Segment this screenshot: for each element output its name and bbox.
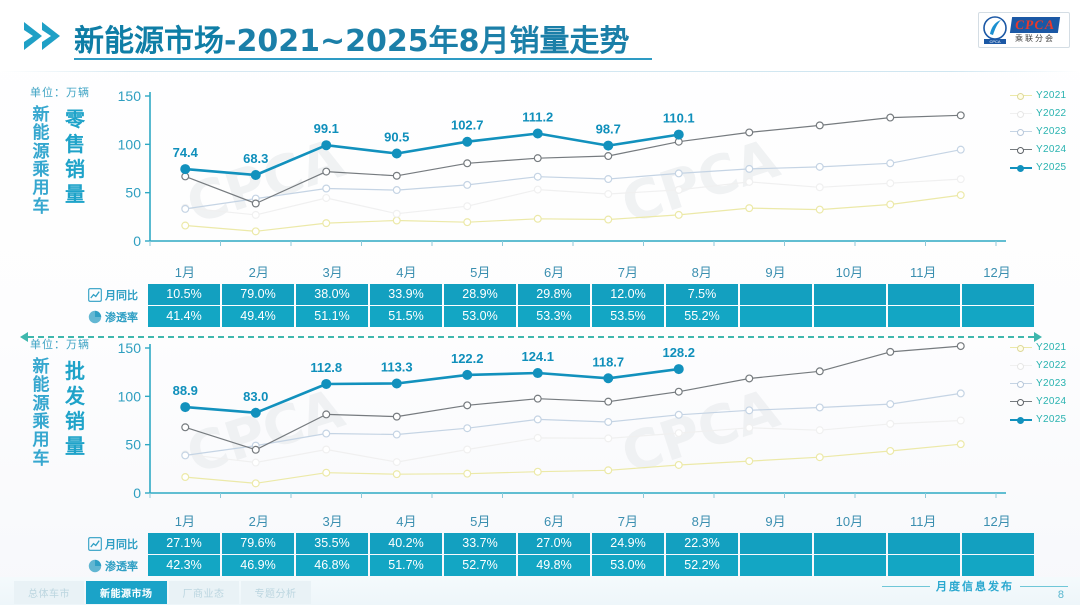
month-header: 3月 — [296, 512, 370, 532]
legend-item-y2023[interactable]: Y2023 — [1010, 126, 1074, 137]
month-header: 4月 — [369, 512, 443, 532]
svg-text:100: 100 — [118, 136, 142, 152]
footer-tab[interactable]: 新能源市场 — [86, 581, 167, 604]
table-cell — [740, 306, 812, 327]
table-cell: 53.5% — [592, 306, 664, 327]
month-header: 9月 — [739, 512, 813, 532]
table-cell: 49.4% — [222, 306, 294, 327]
table-cell — [962, 555, 1034, 576]
table-cell: 33.9% — [370, 284, 442, 305]
table-cell: 28.9% — [444, 284, 516, 305]
line-chart-icon — [88, 537, 102, 551]
line-chart-icon — [88, 288, 102, 302]
month-header: 8月 — [665, 512, 739, 532]
month-header: 11月 — [886, 263, 960, 283]
footer-tab[interactable]: 专题分析 — [241, 581, 311, 604]
svg-text:100: 100 — [118, 388, 142, 404]
svg-text:150: 150 — [118, 340, 142, 356]
footer-tabs: 总体车市新能源市场厂商业态专题分析 — [14, 581, 311, 604]
footer-tab[interactable]: 厂商业态 — [169, 581, 239, 604]
svg-text:50: 50 — [125, 185, 141, 201]
vertical-label-inner-retail: 零售销量 — [62, 108, 88, 208]
month-header: 3月 — [296, 263, 370, 283]
table-cell: 40.2% — [370, 533, 442, 554]
legend-item-y2025[interactable]: Y2025 — [1010, 162, 1074, 173]
legend-item-y2021[interactable]: Y2021 — [1010, 90, 1074, 101]
table-cell: 55.2% — [666, 306, 738, 327]
legend-swatch-icon — [1010, 145, 1032, 155]
table-cell: 29.8% — [518, 284, 590, 305]
row-label-penetration-retail: 渗透率 — [88, 306, 146, 327]
table-cell — [740, 555, 812, 576]
svg-text:118.7: 118.7 — [592, 354, 624, 369]
table-cell: 49.8% — [518, 555, 590, 576]
month-header: 7月 — [591, 263, 665, 283]
legend-item-y2023[interactable]: Y2023 — [1010, 378, 1074, 389]
legend-item-y2025[interactable]: Y2025 — [1010, 414, 1074, 425]
table-cell: 53.3% — [518, 306, 590, 327]
legend-label: Y2024 — [1036, 396, 1066, 407]
table-cell: 7.5% — [666, 284, 738, 305]
month-header: 1月 — [148, 512, 222, 532]
svg-text:112.8: 112.8 — [310, 360, 342, 375]
svg-text:0: 0 — [133, 233, 141, 249]
table-cell — [814, 533, 886, 554]
month-header: 5月 — [443, 512, 517, 532]
legend-item-y2021[interactable]: Y2021 — [1010, 342, 1074, 353]
legend-label: Y2025 — [1036, 162, 1066, 173]
svg-text:88.9: 88.9 — [173, 383, 198, 398]
header-divider — [0, 71, 1080, 72]
legend-label: Y2021 — [1036, 342, 1066, 353]
svg-text:111.2: 111.2 — [522, 110, 553, 125]
month-header: 11月 — [886, 512, 960, 532]
table-cell — [814, 555, 886, 576]
legend-swatch-icon — [1010, 163, 1032, 173]
month-header: 10月 — [812, 263, 886, 283]
month-header: 4月 — [369, 263, 443, 283]
footer-rule-left — [882, 586, 930, 587]
svg-text:102.7: 102.7 — [451, 118, 484, 133]
svg-text:122.2: 122.2 — [451, 351, 484, 366]
slide-page: CPCA CPCA CPCA CPCA 新能源市场-2021~2025年8月销量… — [0, 0, 1080, 605]
month-header: 6月 — [517, 263, 591, 283]
table-cell — [888, 306, 960, 327]
legend-swatch-icon — [1010, 109, 1032, 119]
svg-text:68.3: 68.3 — [243, 151, 268, 166]
chart-retail: 05010015074.468.399.190.5102.7111.298.71… — [104, 86, 1034, 266]
penetration-cells-wholesale: 42.3%46.9%46.8%51.7%52.7%49.8%53.0%52.2% — [148, 555, 1034, 576]
table-cell: 46.8% — [296, 555, 368, 576]
footer-title: 月度信息发布 — [936, 578, 1014, 594]
month-header: 12月 — [960, 263, 1034, 283]
legend-swatch-icon — [1010, 343, 1032, 353]
page-title-rest: -2021~2025年8月销量走势 — [224, 24, 629, 59]
table-cell: 12.0% — [592, 284, 664, 305]
table-cell: 52.7% — [444, 555, 516, 576]
month-header: 8月 — [665, 263, 739, 283]
month-header: 12月 — [960, 512, 1034, 532]
svg-text:98.7: 98.7 — [596, 122, 621, 137]
legend-item-y2022[interactable]: Y2022 — [1010, 108, 1074, 119]
svg-text:128.2: 128.2 — [662, 345, 695, 360]
footer-right: 月度信息发布 — [882, 578, 1068, 594]
vertical-label-outer-retail: 新能源乘用车 — [30, 106, 52, 216]
legend-swatch-icon — [1010, 379, 1032, 389]
footer-tab[interactable]: 总体车市 — [14, 581, 84, 604]
pie-chart-icon — [88, 559, 102, 573]
row-label-mom-wholesale: 月同比 — [88, 533, 146, 554]
table-cell: 22.3% — [666, 533, 738, 554]
cpca-brand-cn: 乘联分会 — [1011, 35, 1059, 43]
month-header: 9月 — [739, 263, 813, 283]
mom-cells-wholesale: 27.1%79.6%35.5%40.2%33.7%27.0%24.9%22.3% — [148, 533, 1034, 554]
table-cell: 33.7% — [444, 533, 516, 554]
table-cell: 79.6% — [222, 533, 294, 554]
row-label-text: 渗透率 — [105, 558, 138, 574]
table-cell: 10.5% — [148, 284, 220, 305]
legend-swatch-icon — [1010, 397, 1032, 407]
svg-text:90.5: 90.5 — [384, 130, 409, 145]
vertical-label-outer-wholesale: 新能源乘用车 — [30, 358, 52, 468]
table-cell — [814, 306, 886, 327]
table-cell: 27.0% — [518, 533, 590, 554]
legend-swatch-icon — [1010, 91, 1032, 101]
svg-text:150: 150 — [118, 88, 142, 104]
svg-text:113.3: 113.3 — [381, 359, 413, 374]
cpca-emblem-icon: CPCA — [982, 16, 1008, 44]
table-cell — [962, 306, 1034, 327]
legend-wholesale: Y2021 Y2022 Y2023 Y2024 Y2025 — [1010, 342, 1074, 425]
table-cell: 79.0% — [222, 284, 294, 305]
table-cell: 52.2% — [666, 555, 738, 576]
svg-text:99.1: 99.1 — [314, 121, 339, 136]
vertical-label-inner-wholesale: 批发销量 — [62, 360, 88, 460]
month-header: 5月 — [443, 263, 517, 283]
table-cell: 41.4% — [148, 306, 220, 327]
table-cell — [888, 555, 960, 576]
month-header: 2月 — [222, 512, 296, 532]
pie-chart-icon — [88, 310, 102, 324]
table-cell — [962, 533, 1034, 554]
table-cell: 51.7% — [370, 555, 442, 576]
legend-label: Y2022 — [1036, 108, 1066, 119]
table-cell — [814, 284, 886, 305]
table-cell: 51.1% — [296, 306, 368, 327]
table-cell: 46.9% — [222, 555, 294, 576]
table-cell — [740, 533, 812, 554]
table-cell: 53.0% — [444, 306, 516, 327]
page-footer: 总体车市新能源市场厂商业态专题分析 月度信息发布 8 — [0, 577, 1080, 605]
row-label-penetration-wholesale: 渗透率 — [88, 555, 146, 576]
month-header-row-wholesale: 1月2月3月4月5月6月7月8月9月10月11月12月 — [148, 512, 1034, 532]
legend-swatch-icon — [1010, 127, 1032, 137]
legend-retail: Y2021 Y2022 Y2023 Y2024 Y2025 — [1010, 90, 1074, 173]
row-label-text: 渗透率 — [105, 309, 138, 325]
row-label-text: 月同比 — [105, 287, 138, 303]
page-title-prefix: 新能源市场 — [74, 24, 224, 59]
table-cell: 42.3% — [148, 555, 220, 576]
month-header: 1月 — [148, 263, 222, 283]
month-header: 2月 — [222, 263, 296, 283]
unit-label-retail: 单位：万辆 — [30, 84, 90, 100]
cpca-logo-text: CPCA 乘联分会 — [1011, 17, 1059, 43]
row-label-mom-retail: 月同比 — [88, 284, 146, 305]
legend-item-y2024[interactable]: Y2024 — [1010, 396, 1074, 407]
table-cell: 53.0% — [592, 555, 664, 576]
title-underline — [74, 58, 652, 60]
table-cell: 38.0% — [296, 284, 368, 305]
page-header: 新能源市场-2021~2025年8月销量走势 CPCA CPCA 乘联分会 — [0, 0, 1080, 72]
page-title: 新能源市场-2021~2025年8月销量走势 — [74, 16, 629, 60]
penetration-cells-retail: 41.4%49.4%51.1%51.5%53.0%53.3%53.5%55.2% — [148, 306, 1034, 327]
table-cell — [740, 284, 812, 305]
table-cell: 35.5% — [296, 533, 368, 554]
footer-rule-right — [1020, 586, 1068, 587]
table-cell — [962, 284, 1034, 305]
table-cell — [888, 284, 960, 305]
legend-label: Y2025 — [1036, 414, 1066, 425]
legend-label: Y2022 — [1036, 360, 1066, 371]
legend-item-y2024[interactable]: Y2024 — [1010, 144, 1074, 155]
row-label-text: 月同比 — [105, 536, 138, 552]
legend-swatch-icon — [1010, 415, 1032, 425]
month-header: 6月 — [517, 512, 591, 532]
svg-text:83.0: 83.0 — [243, 389, 268, 404]
svg-text:124.1: 124.1 — [521, 349, 554, 364]
svg-text:74.4: 74.4 — [173, 145, 199, 160]
month-header: 7月 — [591, 512, 665, 532]
legend-swatch-icon — [1010, 361, 1032, 371]
legend-label: Y2021 — [1036, 90, 1066, 101]
chart-wholesale: 05010015088.983.0112.8113.3122.2124.1118… — [104, 338, 1034, 518]
table-cell — [888, 533, 960, 554]
mom-cells-retail: 10.5%79.0%38.0%33.9%28.9%29.8%12.0%7.5% — [148, 284, 1034, 305]
cpca-brand: CPCA — [1010, 17, 1060, 33]
legend-label: Y2024 — [1036, 144, 1066, 155]
month-header: 10月 — [812, 512, 886, 532]
svg-text:CPCA: CPCA — [989, 39, 1000, 44]
table-cell: 27.1% — [148, 533, 220, 554]
double-chevron-right-icon — [22, 18, 68, 54]
table-cell: 51.5% — [370, 306, 442, 327]
page-number: 8 — [1058, 589, 1064, 601]
unit-label-wholesale: 单位：万辆 — [30, 336, 90, 352]
legend-label: Y2023 — [1036, 378, 1066, 389]
legend-item-y2022[interactable]: Y2022 — [1010, 360, 1074, 371]
svg-text:110.1: 110.1 — [663, 111, 695, 126]
legend-label: Y2023 — [1036, 126, 1066, 137]
svg-text:0: 0 — [133, 485, 141, 501]
month-header-row-retail: 1月2月3月4月5月6月7月8月9月10月11月12月 — [148, 263, 1034, 283]
svg-text:50: 50 — [125, 437, 141, 453]
cpca-logo: CPCA CPCA 乘联分会 — [978, 12, 1070, 48]
table-cell: 24.9% — [592, 533, 664, 554]
